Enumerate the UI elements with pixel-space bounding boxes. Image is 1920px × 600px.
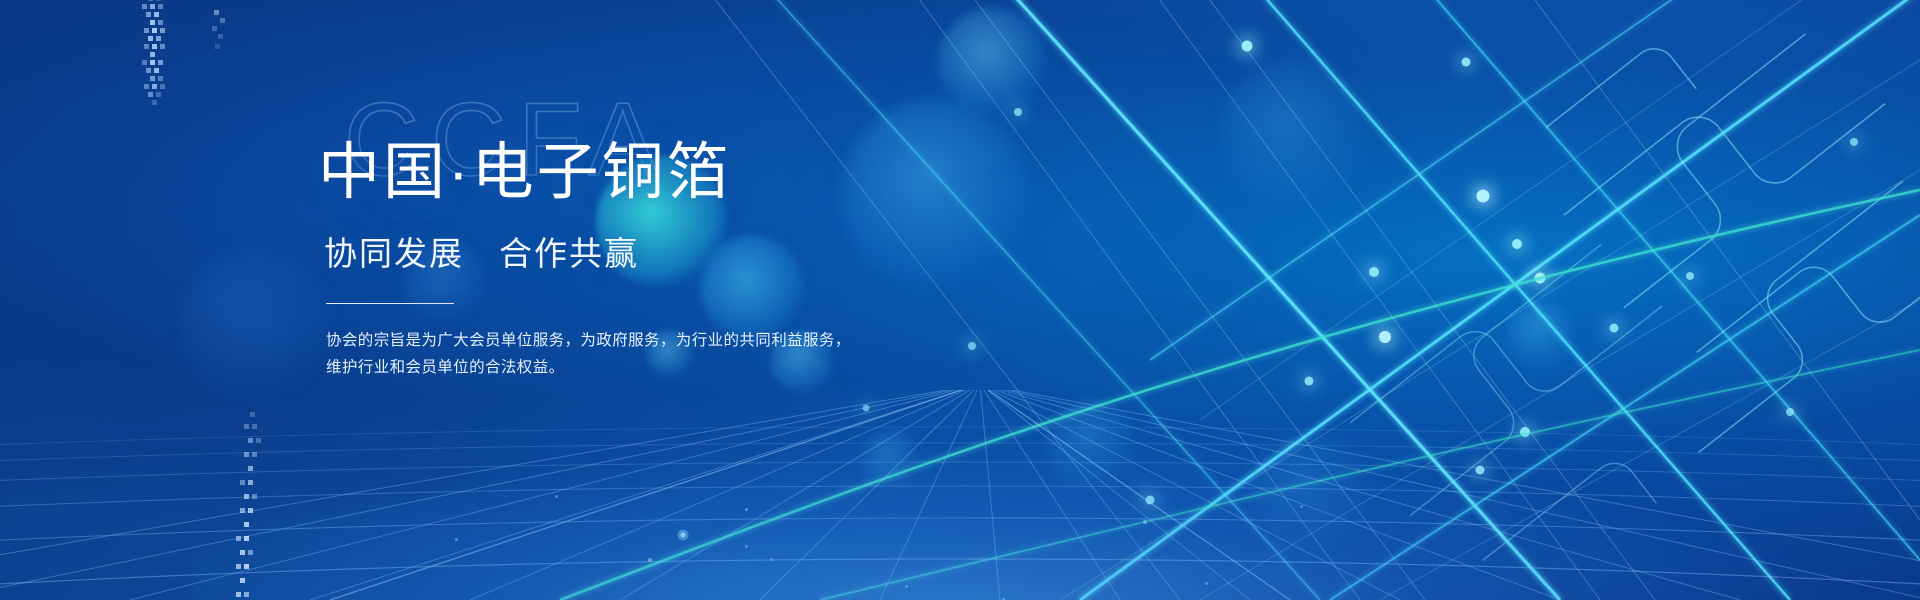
description-line-2: 维护行业和会员单位的合法权益。: [326, 355, 866, 382]
page-title: 中国·电子铜箔: [318, 96, 1078, 207]
divider: [326, 303, 454, 304]
banner-content: CCFA 中国·电子铜箔 协同发展 合作共赢 协会的宗旨是为广大会员单位服务，为…: [318, 96, 1078, 382]
bokeh-circle: [1220, 60, 1370, 210]
banner-subtitle: 协同发展 合作共赢: [324, 227, 1078, 275]
perspective-grid-floor: [0, 390, 1920, 600]
dotted-pixel-column-side: [206, 10, 230, 56]
dotted-pixel-column-top: [132, 0, 176, 108]
banner-description: 协会的宗旨是为广大会员单位服务，为政府服务，为行业的共同利益服务， 维护行业和会…: [326, 328, 866, 381]
description-line-1: 协会的宗旨是为广大会员单位服务，为政府服务，为行业的共同利益服务，: [326, 328, 866, 355]
bokeh-circle: [1506, 300, 1576, 370]
bokeh-circle: [180, 250, 330, 400]
hero-banner: CCFA 中国·电子铜箔 协同发展 合作共赢 协会的宗旨是为广大会员单位服务，为…: [0, 0, 1920, 600]
